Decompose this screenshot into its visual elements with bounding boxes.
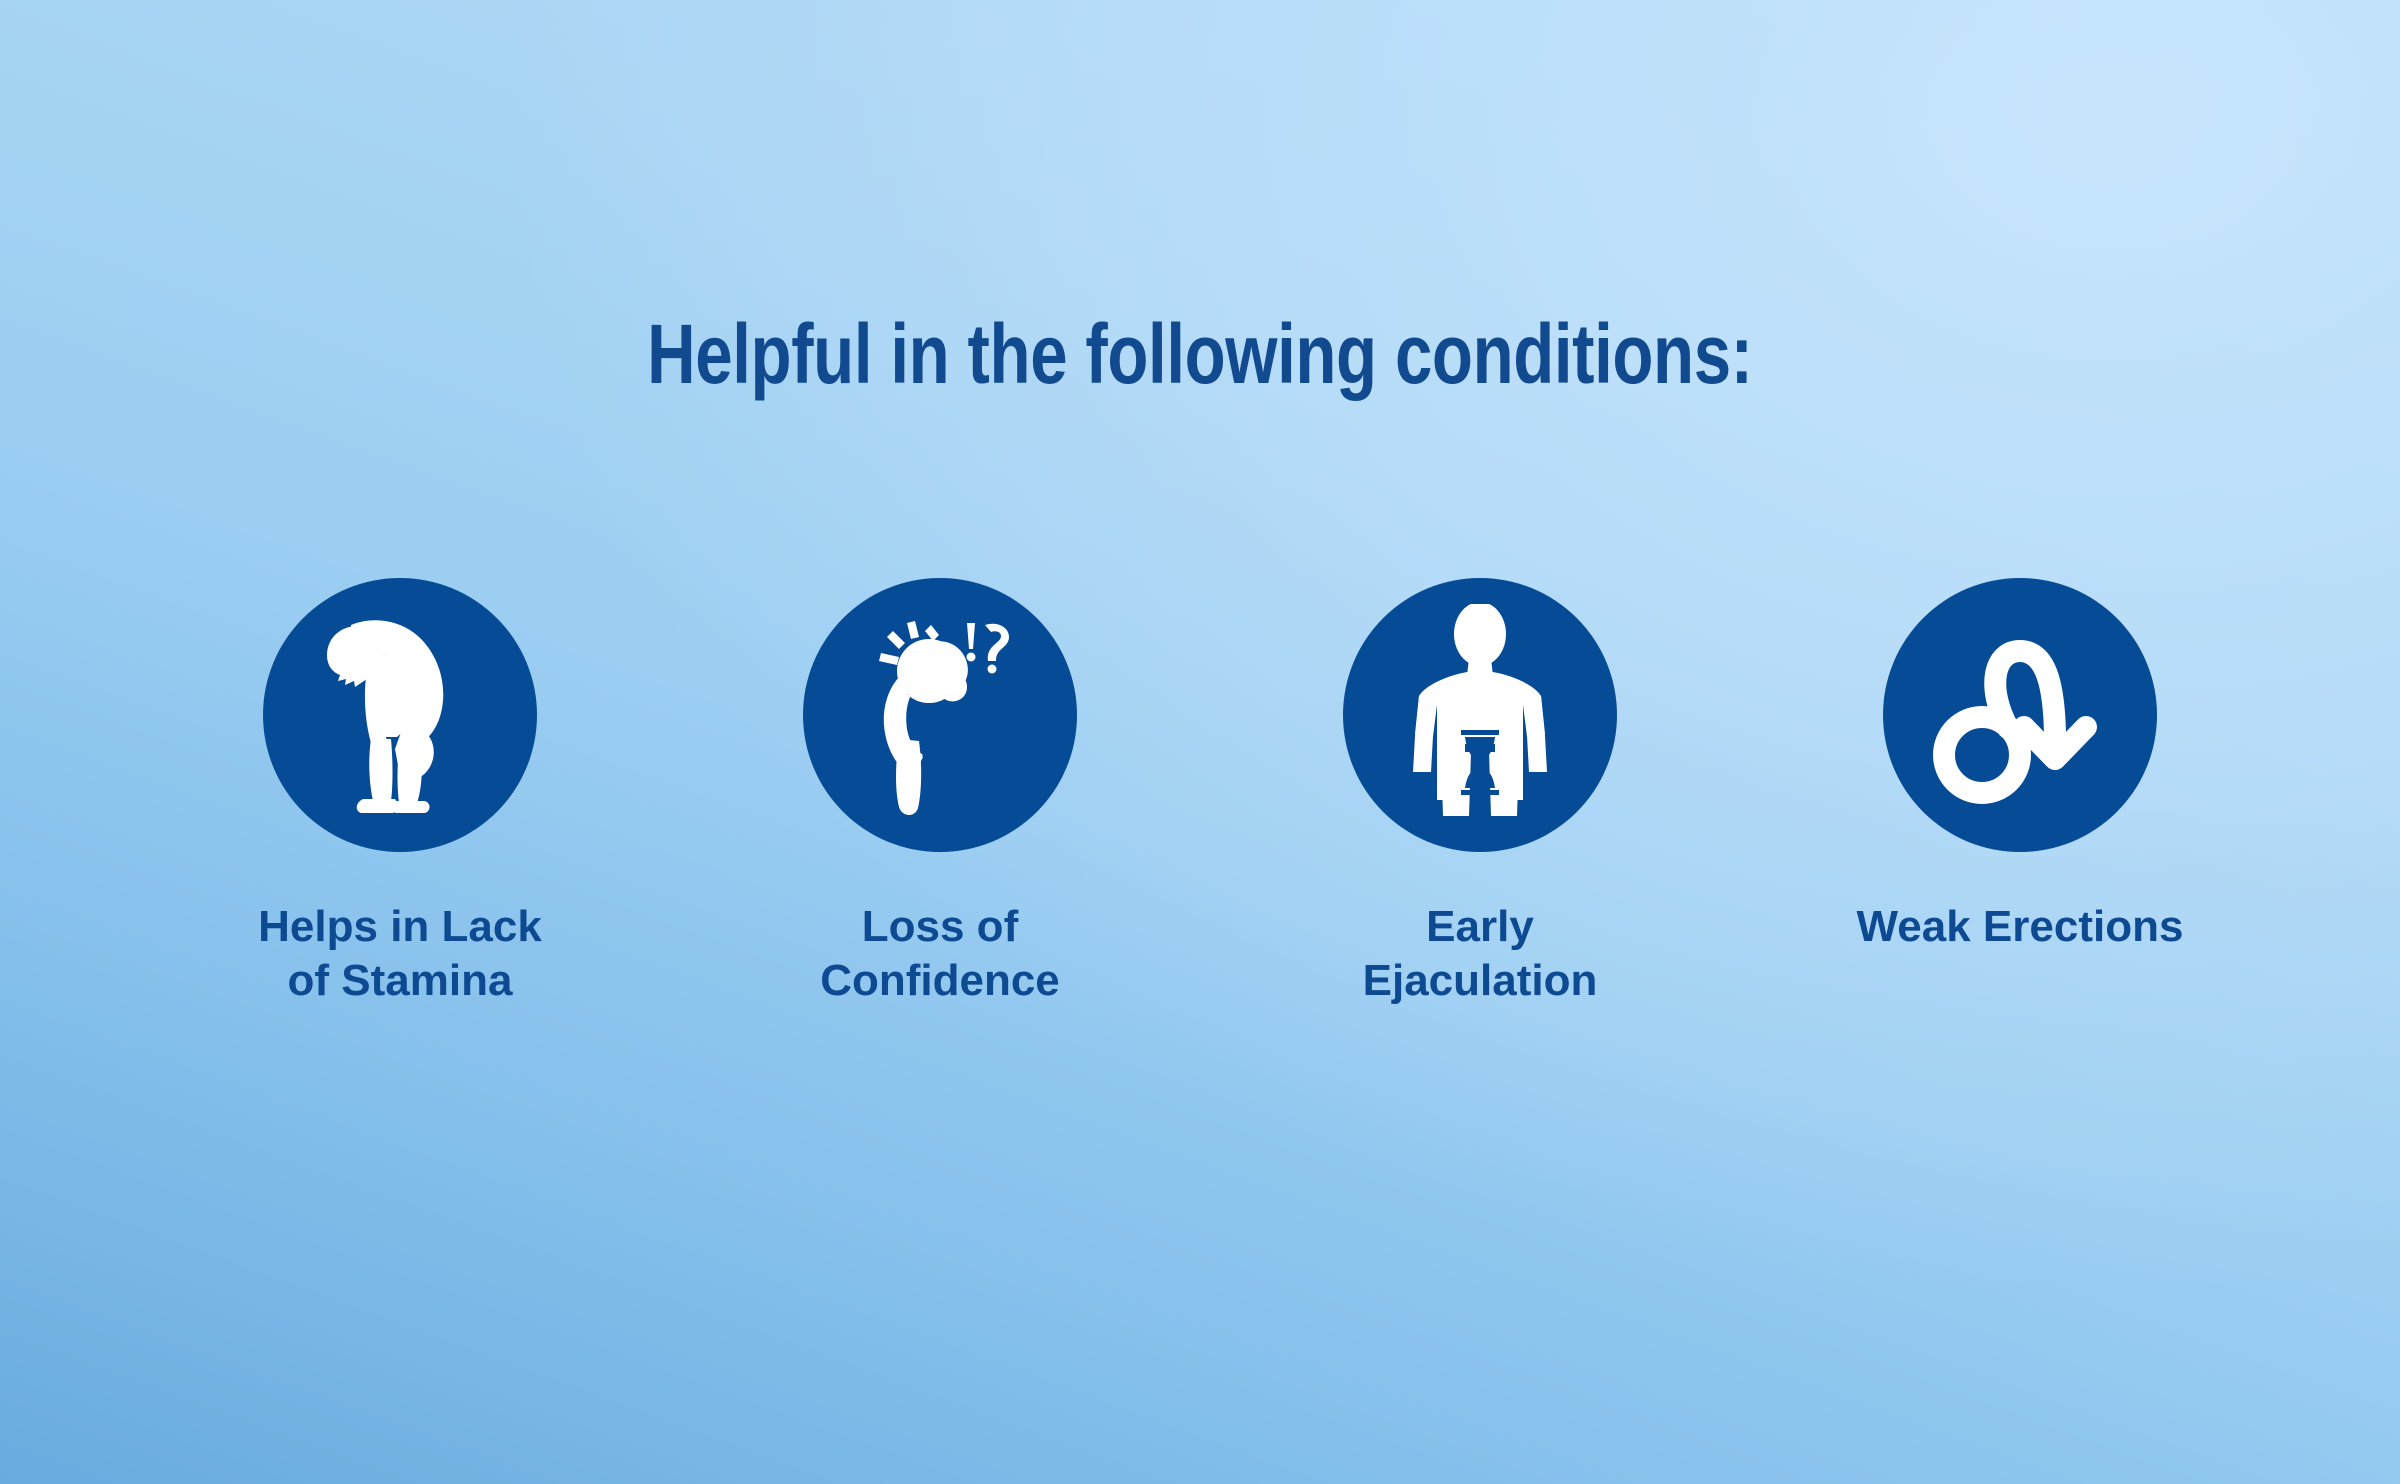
male-body-hourglass-icon: [1385, 604, 1575, 826]
condition-label: Loss of Confidence: [820, 900, 1060, 1007]
hunched-exhausted-man-icon: [305, 609, 495, 821]
condition-label: Early Ejaculation: [1363, 900, 1598, 1007]
male-symbol-down-arrow-icon: [1920, 615, 2120, 815]
condition-card-ejaculation: Early Ejaculation: [1240, 578, 1720, 1007]
condition-card-stamina: Helps in Lack of Stamina: [160, 578, 640, 1007]
page-title: Helpful in the following conditions:: [647, 312, 1752, 396]
condition-label: Helps in Lack of Stamina: [258, 900, 542, 1007]
condition-label: Weak Erections: [1857, 900, 2184, 954]
confused-worried-man-icon: [845, 609, 1035, 821]
condition-icon-badge: [1883, 578, 2157, 852]
conditions-row: Helps in Lack of Stamina: [160, 578, 2260, 1007]
title-container: Helpful in the following conditions:: [0, 312, 2400, 396]
condition-card-confidence: Loss of Confidence: [700, 578, 1180, 1007]
slide-root: Helpful in the following conditions:: [0, 0, 2400, 1484]
condition-icon-badge: [263, 578, 537, 852]
condition-icon-badge: [1343, 578, 1617, 852]
condition-icon-badge: [803, 578, 1077, 852]
condition-card-erections: Weak Erections: [1780, 578, 2260, 954]
